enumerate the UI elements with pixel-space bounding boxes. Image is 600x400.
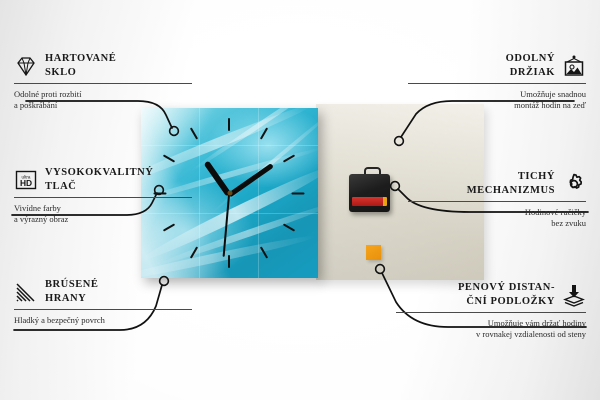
feature-subtitle: Vivídne farby	[14, 203, 192, 214]
feature-title: ČNÍ PODLOŽKY	[458, 295, 555, 309]
clock-tick	[283, 223, 295, 231]
feature-title: ODOLNÝ	[506, 52, 555, 66]
feature-subtitle: Umožňuje snadnou	[408, 89, 586, 100]
arrow-onto-stack-icon	[562, 283, 586, 307]
feature-subtitle: montáž hodin na zeď	[408, 100, 586, 111]
feature-title: HARTOVANÉ	[45, 52, 116, 66]
feature-subtitle: Odolné proti rozbití	[14, 89, 192, 100]
feature-silent-mechanism: TICHÝ MECHANIZMUS Hodinové ručičky bez z…	[408, 170, 586, 229]
feature-title: BRÚSENÉ	[45, 278, 98, 292]
feature-subtitle: Hladký a bezpečný povrch	[14, 315, 192, 326]
divider	[14, 309, 192, 310]
feature-title: TLAČ	[45, 180, 153, 194]
clock-center-hub	[227, 191, 232, 196]
foam-pad-photo	[366, 245, 381, 260]
feature-subtitle: a výrazný obraz	[14, 214, 192, 225]
feature-durable-holder: ODOLNÝ DRŽIAK Umožňuje snadnou montáž ho…	[408, 52, 586, 111]
divider	[14, 197, 192, 198]
feature-polished-edges: BRÚSENÉ HRANY Hladký a bezpečný povrch	[14, 278, 192, 326]
feature-title: TICHÝ	[467, 170, 555, 184]
divider	[396, 312, 586, 313]
feature-title: MECHANIZMUS	[467, 184, 555, 198]
feature-subtitle: v rovnakej vzdialenosti od steny	[396, 329, 586, 340]
framed-picture-icon	[562, 54, 586, 78]
beveled-edge-icon	[14, 280, 38, 304]
feature-subtitle: Umožňuje vám držať hodiny	[396, 318, 586, 329]
feature-high-quality-print: ultra HD VYSOKOKVALITNÝ TLAČ Vivídne far…	[14, 166, 192, 225]
battery	[352, 197, 385, 206]
feature-subtitle: Hodinové ručičky	[408, 207, 586, 218]
feature-title: HRANY	[45, 292, 98, 306]
clock-tick	[190, 127, 198, 139]
divider	[408, 201, 586, 202]
feature-subtitle: a poškrábání	[14, 100, 192, 111]
feature-hardened-glass: HARTOVANÉ SKLO Odolné proti rozbití a po…	[14, 52, 192, 111]
diamond-icon	[14, 54, 38, 78]
feature-foam-distance-pads: PENOVÝ DISTAN- ČNÍ PODLOŽKY Umožňuje vám…	[396, 281, 586, 340]
feature-title: PENOVÝ DISTAN-	[458, 281, 555, 295]
clock-tick	[228, 118, 230, 131]
clock-tick	[228, 255, 230, 268]
feature-title: VYSOKOKVALITNÝ	[45, 166, 153, 180]
gear-icon	[562, 172, 586, 196]
ultra-hd-icon: ultra HD	[14, 168, 38, 192]
divider	[408, 83, 586, 84]
feature-title: DRŽIAK	[506, 66, 555, 80]
clock-tick	[292, 193, 305, 195]
svg-text:HD: HD	[20, 178, 32, 188]
divider	[14, 83, 192, 84]
feature-title: SKLO	[45, 66, 116, 80]
clock-mechanism-photo	[349, 174, 390, 212]
battery-positive-tip	[383, 197, 387, 206]
feature-subtitle: bez zvuku	[408, 218, 586, 229]
infographic-canvas: HARTOVANÉ SKLO Odolné proti rozbití a po…	[0, 0, 600, 400]
